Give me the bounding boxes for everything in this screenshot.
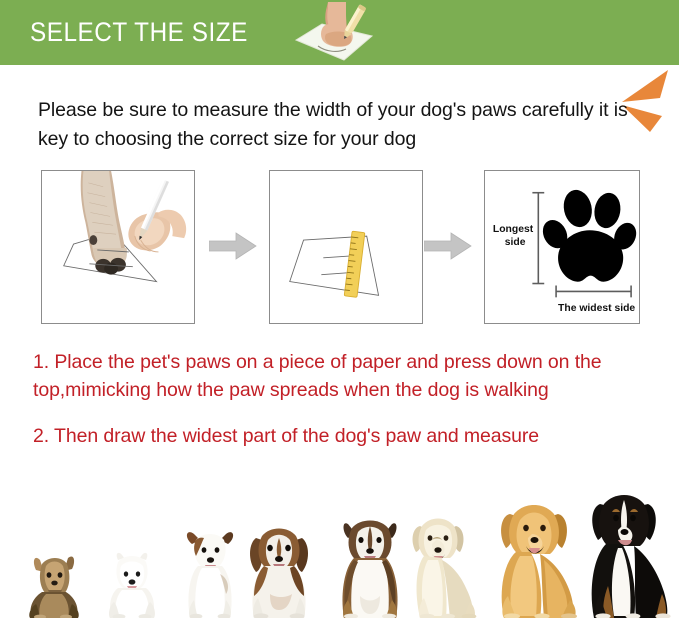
longest-side-label-line1: Longest xyxy=(493,224,534,235)
paper-with-ruler-illustration xyxy=(270,171,422,323)
arrow-right-icon xyxy=(209,232,257,260)
dog-bernese-mountain-dog xyxy=(578,490,678,618)
dog-paw-being-traced-with-pencil-photo xyxy=(42,171,194,323)
widest-side-label: The widest side xyxy=(558,303,635,314)
intro-paragraph: Please be sure to measure the width of y… xyxy=(38,96,646,154)
dog-yorkshire-terrier xyxy=(18,530,90,618)
dog-beagle xyxy=(236,514,322,618)
illustration-strip: Longest side The widest side xyxy=(41,170,641,324)
instruction-steps: 1. Place the pet's paws on a piece of pa… xyxy=(33,348,661,450)
panel-trace-paw xyxy=(41,170,195,324)
header-band: SELECT THE SIZE xyxy=(0,0,679,65)
dog-breed-row xyxy=(0,488,679,618)
panel-paw-dimensions: Longest side The widest side xyxy=(484,170,640,324)
paw-print-with-measurements-diagram: Longest side The widest side xyxy=(485,171,639,323)
longest-side-label-line2: side xyxy=(505,237,526,248)
panel-measure-ruler xyxy=(269,170,423,324)
dog-golden-retriever xyxy=(486,498,590,618)
instruction-step-1: 1. Place the pet's paws on a piece of pa… xyxy=(33,348,661,404)
dog-yellow-labrador-retriever xyxy=(398,508,494,618)
hand-drawing-on-paper-icon xyxy=(288,2,380,65)
page-title: SELECT THE SIZE xyxy=(30,17,248,48)
dog-west-highland-white-terrier xyxy=(96,536,168,618)
instruction-step-2: 2. Then draw the widest part of the dog'… xyxy=(33,422,661,450)
arrow-right-icon xyxy=(424,232,472,260)
